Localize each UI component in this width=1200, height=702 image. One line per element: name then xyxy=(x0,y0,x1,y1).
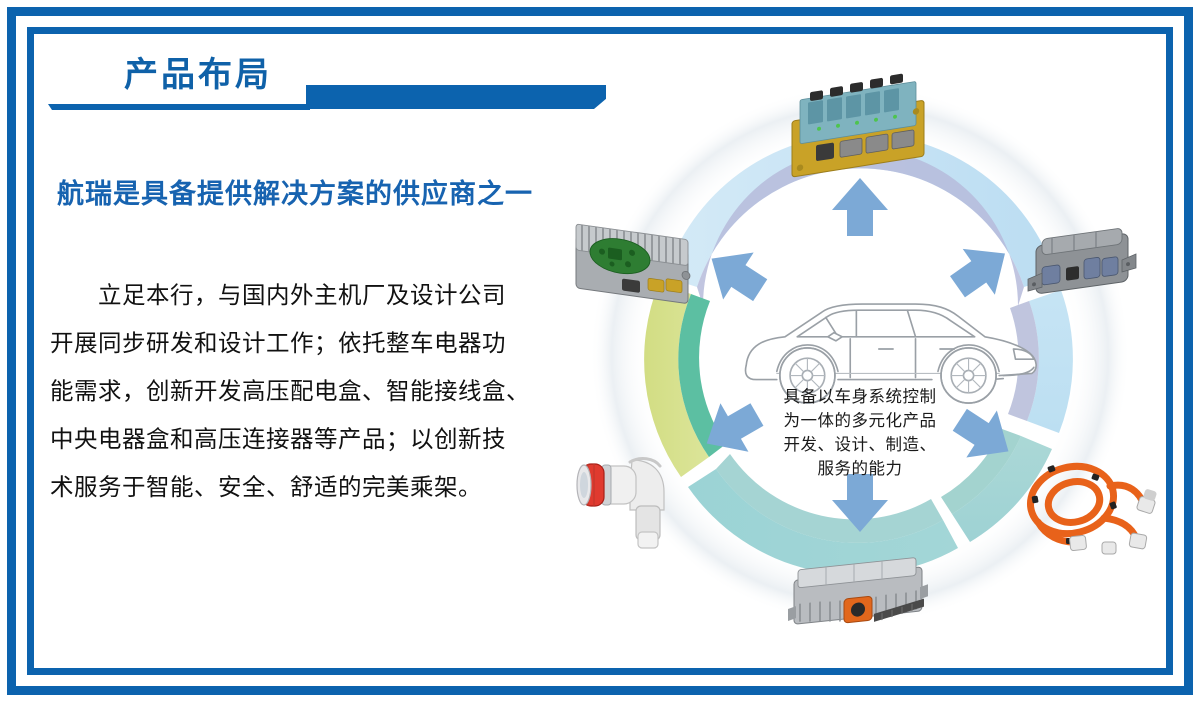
center-line: 为一体的多元化产品 xyxy=(745,409,975,433)
body-line: 能需求，创新开发高压配电盒、智能接线盒、 xyxy=(50,368,550,416)
header: 产品布局 xyxy=(48,54,608,116)
diagram-center-caption: 具备以车身系统控制 为一体的多元化产品 开发、设计、制造、 服务的能力 xyxy=(745,385,975,481)
product-layout-diagram: 具备以车身系统控制 为一体的多元化产品 开发、设计、制造、 服务的能力 xyxy=(540,40,1180,670)
page-title: 产品布局 xyxy=(124,52,272,98)
product-hv-connector[interactable] xyxy=(577,459,664,548)
header-underline-rule xyxy=(48,104,310,110)
header-accent-bar xyxy=(306,85,606,109)
body-paragraph: 立足本行，与国内外主机厂及设计公司 开展同步研发和设计工作；依托整车电器功 能需… xyxy=(50,272,550,512)
center-line: 开发、设计、制造、 xyxy=(745,433,975,457)
body-line: 开展同步研发和设计工作；依托整车电器功 xyxy=(50,320,550,368)
subtitle-heading: 航瑞是具备提供解决方案的供应商之一 xyxy=(57,172,587,211)
center-line: 具备以车身系统控制 xyxy=(745,385,975,409)
body-line: 术服务于智能、安全、舒适的完美乘架。 xyxy=(50,464,550,512)
slide-root: 产品布局 航瑞是具备提供解决方案的供应商之一 立足本行，与国内外主机厂及设计公司… xyxy=(0,0,1200,702)
body-line: 立足本行，与国内外主机厂及设计公司 xyxy=(50,272,550,320)
body-line: 中央电器盒和高压连接器等产品；以创新技 xyxy=(50,416,550,464)
diagram-canvas xyxy=(540,40,1180,670)
center-line: 服务的能力 xyxy=(745,457,975,481)
